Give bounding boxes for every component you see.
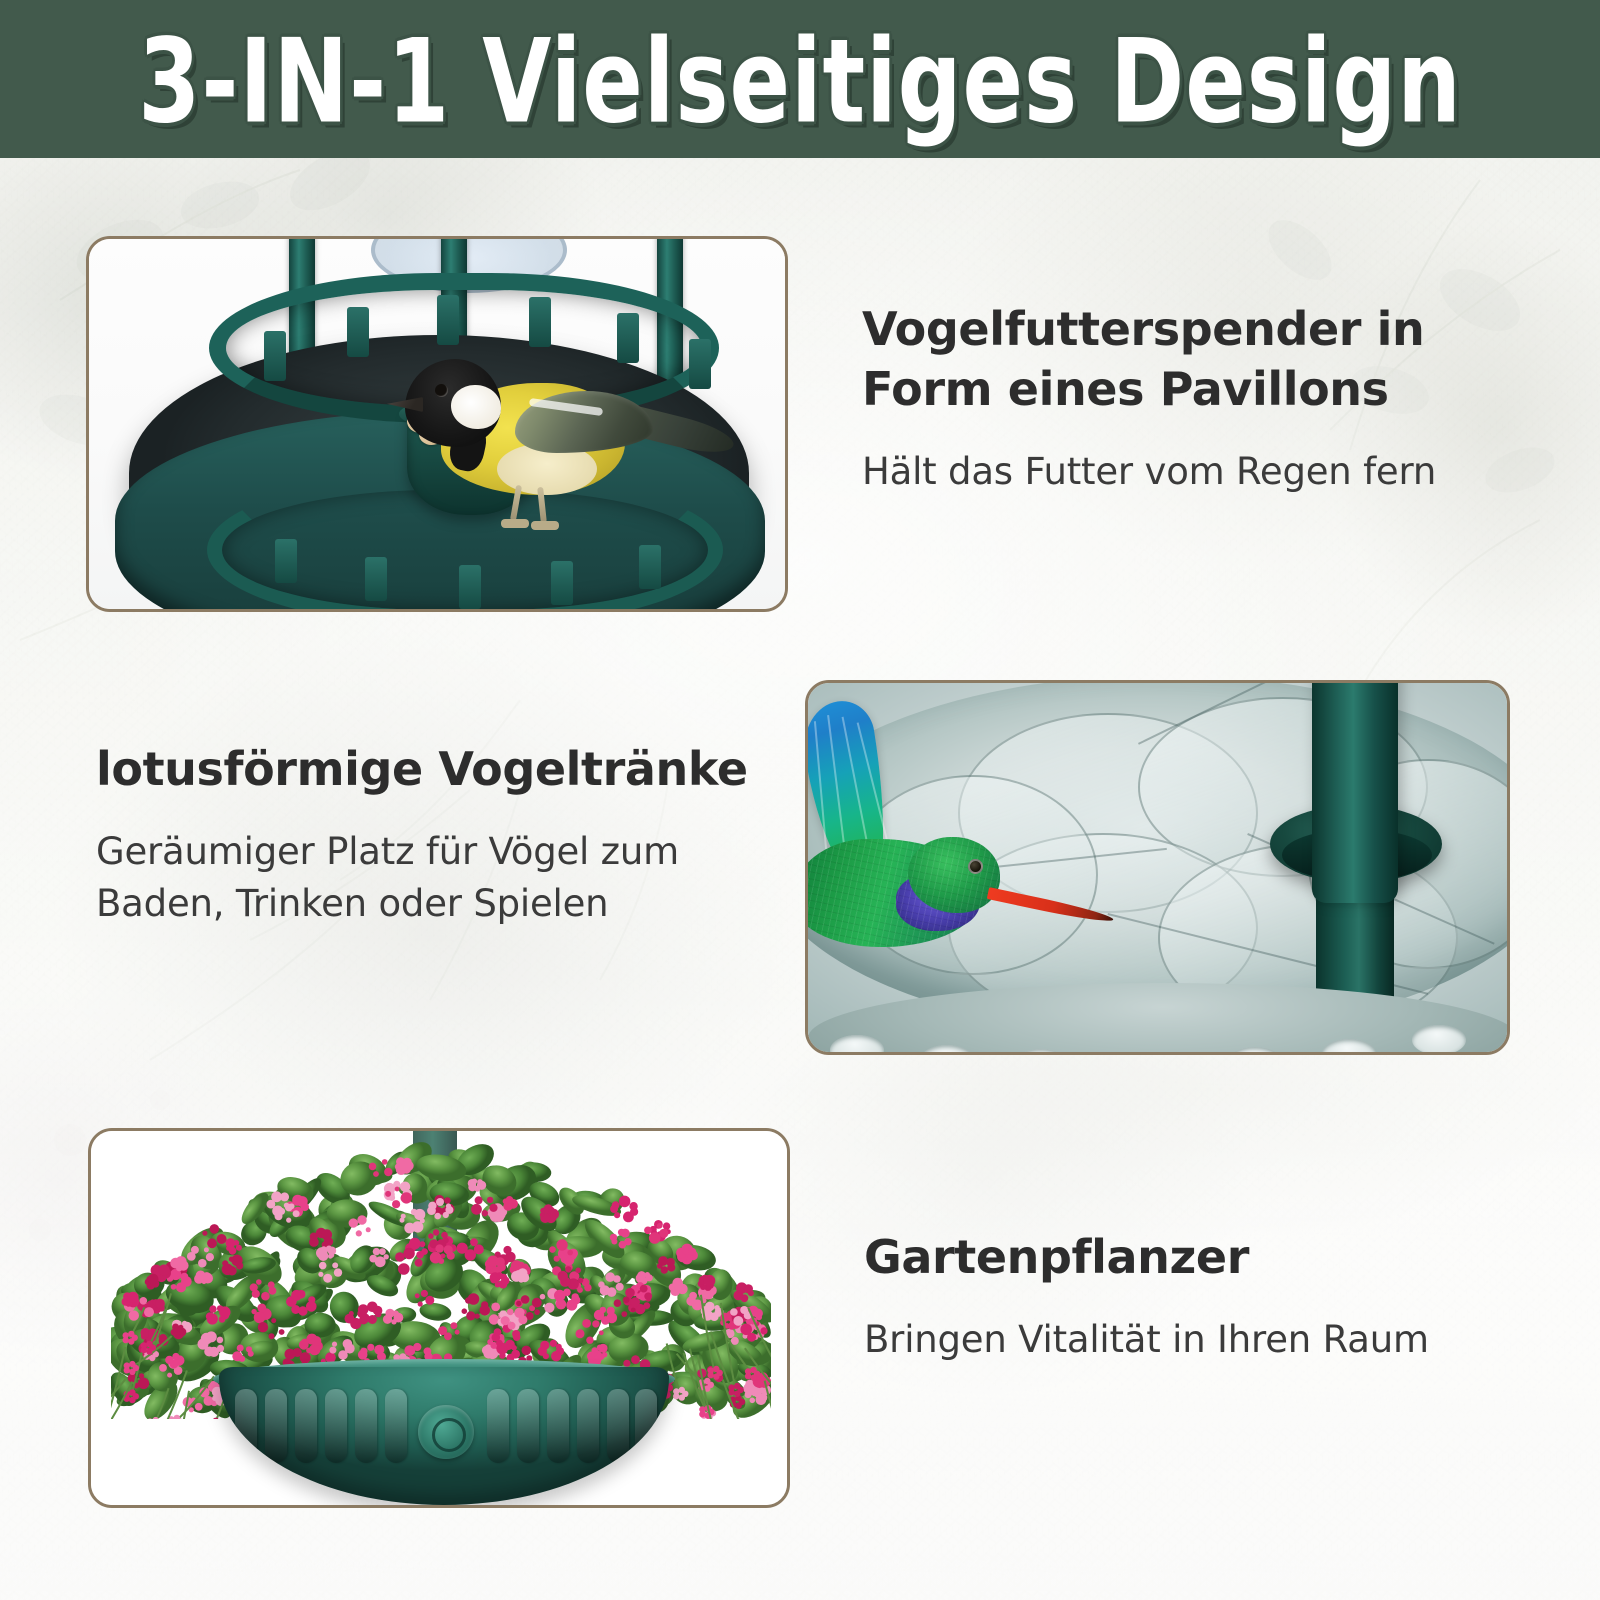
flower-bloom: [146, 1348, 152, 1354]
flower-bloom: [416, 1251, 424, 1259]
flower-bloom: [607, 1307, 615, 1315]
flower-bloom: [393, 1310, 399, 1316]
flower-bloom: [374, 1345, 384, 1355]
flower-bloom: [494, 1328, 502, 1336]
flower-bloom: [209, 1305, 216, 1312]
flower-bloom: [616, 1283, 624, 1291]
flower-bloom: [435, 1244, 443, 1252]
flower-bloom: [549, 1246, 556, 1253]
flower-bloom: [734, 1383, 740, 1389]
flower-bloom: [612, 1201, 620, 1209]
flower-bloom: [258, 1322, 268, 1332]
flower-bloom: [750, 1388, 756, 1394]
flower-bloom: [174, 1415, 180, 1419]
flower-bloom: [663, 1222, 670, 1229]
feature-subtitle-bird-feeder: Hält das Futter vom Regen fern: [862, 446, 1502, 499]
flower-bloom: [334, 1268, 342, 1276]
flower-bloom: [576, 1329, 585, 1338]
flower-bloom: [409, 1238, 421, 1250]
flower-bloom: [501, 1316, 510, 1325]
feature-subtitle-bird-bath: Geräumiger Platz für Vögel zum Baden, Tr…: [96, 826, 776, 931]
flower-bloom: [666, 1258, 675, 1267]
flower-bloom: [403, 1248, 414, 1259]
flower-bloom: [123, 1332, 129, 1338]
flower-bloom: [332, 1262, 338, 1268]
flower-bloom: [640, 1285, 648, 1293]
flower-bloom: [730, 1308, 738, 1316]
flower-bloom: [629, 1202, 637, 1210]
flower-bloom: [516, 1301, 521, 1306]
flower-bloom: [444, 1245, 453, 1254]
flower-bloom: [128, 1338, 134, 1344]
feeder-baluster: [551, 561, 573, 605]
flower-bloom: [565, 1266, 571, 1272]
bird-foot: [501, 519, 529, 528]
flower-bloom: [699, 1406, 705, 1412]
flower-bloom: [293, 1210, 300, 1217]
flower-bloom: [610, 1234, 617, 1241]
flower-bloom: [644, 1227, 652, 1235]
flower-bloom: [704, 1275, 716, 1287]
flower-bloom: [140, 1297, 148, 1305]
bath-center-column: [1312, 683, 1398, 903]
flower-bloom: [558, 1271, 568, 1281]
flower-bloom: [586, 1337, 593, 1344]
flower-bloom: [358, 1304, 369, 1315]
flower-bloom: [679, 1387, 685, 1393]
flower-bloom: [462, 1308, 468, 1314]
flower-bloom: [446, 1203, 451, 1208]
flower-bloom: [323, 1274, 332, 1283]
flower-bloom: [167, 1373, 172, 1378]
flower-bloom: [450, 1322, 457, 1329]
feature-title-bird-feeder: Vogelfutterspender in Form eines Pavillo…: [862, 300, 1502, 420]
flower-bloom: [575, 1268, 581, 1274]
flower-bloom: [428, 1233, 434, 1239]
flower-bloom: [631, 1308, 636, 1313]
flower-bloom: [414, 1209, 425, 1220]
flower-bloom: [554, 1256, 560, 1262]
flower-bloom: [619, 1196, 631, 1208]
flower-bloom: [176, 1282, 186, 1292]
flower-bloom: [679, 1394, 685, 1400]
flower-bloom: [600, 1307, 606, 1313]
flower-bloom: [672, 1278, 683, 1289]
flower-bloom: [138, 1378, 149, 1389]
flower-bloom: [286, 1218, 291, 1223]
feature-image-bird-feeder: [86, 236, 788, 612]
flower-bloom: [728, 1384, 734, 1390]
flower-bloom: [217, 1337, 224, 1344]
flower-bloom: [625, 1288, 635, 1298]
feature-subtitle-garden-planter: Bringen Vitalität in Ihren Raum: [864, 1314, 1524, 1367]
flower-bloom: [733, 1316, 743, 1326]
flower-bloom: [430, 1252, 442, 1264]
flower-bloom: [182, 1321, 187, 1326]
bird-cheek-patch: [451, 385, 501, 429]
flower-bloom: [475, 1196, 483, 1204]
flower-bloom: [740, 1306, 748, 1314]
flower-bloom: [649, 1232, 661, 1244]
flower-bloom: [155, 1299, 165, 1309]
bath-drain-hole: [1412, 1025, 1466, 1052]
flower-bloom: [338, 1350, 348, 1360]
flower-bloom: [246, 1346, 252, 1352]
flower-bloom: [343, 1339, 353, 1349]
flower-bloom: [402, 1158, 412, 1168]
flower-bloom: [395, 1252, 405, 1262]
flower-bloom: [482, 1210, 488, 1216]
flower-bloom: [514, 1308, 524, 1318]
flower-bloom: [404, 1223, 415, 1234]
flower-bloom: [619, 1241, 627, 1249]
flower-bloom: [206, 1253, 214, 1261]
flower-bloom: [144, 1307, 154, 1317]
flower-bloom: [595, 1354, 602, 1361]
flower-bloom: [141, 1342, 147, 1348]
flower-bloom: [285, 1204, 293, 1212]
flower-bloom: [171, 1284, 177, 1290]
flower-bloom: [203, 1272, 211, 1280]
flower-bloom: [395, 1187, 400, 1192]
flower-bloom: [434, 1213, 441, 1220]
flower-bloom: [198, 1259, 207, 1268]
flower-bloom: [256, 1279, 262, 1285]
flower-bloom: [418, 1301, 423, 1306]
flower-bloom: [689, 1292, 697, 1300]
flower-bloom: [385, 1191, 391, 1197]
flower-bloom: [623, 1212, 634, 1223]
flower-bloom: [505, 1340, 515, 1350]
flower-bloom: [278, 1208, 285, 1215]
flower-bloom: [424, 1347, 432, 1355]
flower-bloom: [614, 1212, 620, 1218]
flower-bloom: [421, 1290, 428, 1297]
flower-bloom: [466, 1311, 475, 1320]
flower-bloom: [128, 1331, 134, 1337]
flower-bloom: [457, 1243, 468, 1254]
flower-bloom: [366, 1227, 371, 1232]
flower-bloom: [206, 1312, 215, 1321]
feature-text-garden-planter: Gartenpflanzer Bringen Vitalität in Ihre…: [864, 1228, 1524, 1366]
flower-bloom: [401, 1214, 406, 1219]
flower-bloom: [598, 1344, 607, 1353]
flower-bloom: [139, 1373, 144, 1378]
flower-bloom: [202, 1231, 207, 1236]
flower-bloom: [471, 1204, 482, 1215]
flower-bloom: [637, 1271, 646, 1280]
flower-bloom: [521, 1295, 530, 1304]
feature-title-bird-bath: lotusförmige Vogeltränke: [96, 740, 776, 800]
flower-bloom: [522, 1346, 532, 1356]
flower-bloom: [753, 1309, 763, 1319]
flower-bloom: [657, 1223, 663, 1229]
flower-bloom: [415, 1293, 420, 1298]
flower-bloom: [129, 1310, 139, 1320]
flower-bloom: [750, 1398, 756, 1404]
flower-bloom: [472, 1179, 478, 1185]
bird-eye: [435, 384, 448, 397]
flower-bloom: [311, 1336, 321, 1346]
flower-bloom: [477, 1179, 483, 1185]
flower-bloom: [400, 1182, 410, 1192]
flower-bloom: [518, 1268, 528, 1278]
flower-bloom: [328, 1247, 337, 1256]
flower-bloom: [673, 1388, 679, 1394]
flower-bloom: [630, 1297, 640, 1307]
flower-bloom: [207, 1238, 217, 1248]
flower-bloom: [268, 1281, 275, 1288]
flower-bloom: [512, 1330, 520, 1338]
flower-bloom: [231, 1255, 242, 1266]
flower-bloom: [470, 1238, 478, 1246]
flower-bloom: [491, 1303, 500, 1312]
flower-bloom: [495, 1257, 505, 1267]
flower-bloom: [455, 1330, 460, 1335]
flower-bloom: [257, 1304, 266, 1313]
flower-bloom: [129, 1389, 135, 1395]
flower-bloom: [297, 1196, 308, 1207]
flower-bloom: [548, 1207, 555, 1214]
flower-bloom: [318, 1272, 323, 1277]
hummingbird: [808, 691, 1096, 991]
flower-bloom: [438, 1326, 447, 1335]
flower-bloom: [146, 1341, 152, 1347]
page-title: 3-IN-1 Vielseitiges Design: [138, 17, 1462, 140]
flower-bloom: [487, 1197, 493, 1203]
flower-bloom: [551, 1351, 561, 1361]
flower-bloom: [659, 1229, 668, 1238]
flower-bloom: [195, 1403, 203, 1411]
flower-bloom: [714, 1305, 719, 1310]
flower-bloom: [419, 1241, 425, 1247]
flower-bloom: [760, 1327, 767, 1334]
flower-bloom: [623, 1297, 630, 1304]
feeder-baluster: [437, 295, 459, 345]
flower-bloom: [534, 1309, 540, 1315]
flower-bloom: [373, 1306, 383, 1316]
flower-bloom: [644, 1292, 652, 1300]
flower-bloom: [392, 1200, 400, 1208]
flower-bloom: [544, 1303, 554, 1313]
flower-bloom: [443, 1212, 449, 1218]
flower-bloom: [159, 1364, 167, 1372]
flower-bloom: [532, 1298, 542, 1308]
feeder-baluster: [529, 297, 551, 347]
flower-bloom: [740, 1324, 752, 1336]
feature-image-bird-bath: [805, 680, 1510, 1055]
feature-title-garden-planter: Gartenpflanzer: [864, 1228, 1524, 1288]
planter-medallion: [418, 1405, 474, 1459]
flower-leaf: [418, 1301, 452, 1323]
flower-bloom: [572, 1293, 579, 1300]
flower-bloom: [708, 1367, 714, 1373]
flower-bloom: [428, 1202, 436, 1210]
flower-bloom: [356, 1230, 362, 1236]
feeder-baluster: [459, 565, 481, 609]
flower-bloom: [373, 1248, 380, 1255]
flower-bloom: [129, 1369, 135, 1375]
flower-bloom: [308, 1296, 315, 1303]
feeder-baluster: [365, 557, 387, 601]
flower-bloom: [598, 1281, 604, 1287]
feature-image-garden-planter: [88, 1128, 790, 1508]
flower-bloom: [367, 1344, 374, 1351]
flower-bloom: [599, 1330, 604, 1335]
flower-bloom: [261, 1292, 270, 1301]
flower-bloom: [329, 1347, 336, 1354]
flower-bloom: [745, 1368, 751, 1374]
flower-bloom: [357, 1215, 366, 1224]
feeder-baluster: [275, 539, 297, 583]
flower-bloom: [236, 1245, 242, 1251]
feeder-baluster: [347, 307, 369, 357]
flower-bloom: [506, 1196, 513, 1203]
flower-bloom: [415, 1259, 423, 1267]
flower-bloom: [251, 1309, 256, 1314]
flower-bloom: [614, 1299, 622, 1307]
flower-bloom: [713, 1366, 719, 1372]
flower-bloom: [332, 1342, 337, 1347]
flower-bloom: [349, 1311, 354, 1316]
flower-bloom: [592, 1320, 599, 1327]
flower-bloom: [481, 1301, 488, 1308]
flower-bloom: [413, 1343, 421, 1351]
flower-bloom: [489, 1204, 497, 1212]
flower-bloom: [250, 1283, 258, 1291]
flower-bloom: [507, 1309, 514, 1316]
flower-bloom: [750, 1367, 756, 1373]
flower-bloom: [127, 1292, 138, 1303]
flower-bloom: [567, 1250, 573, 1256]
planter-bowl: [219, 1367, 669, 1505]
flower-bloom: [237, 1345, 244, 1352]
flower-bloom: [382, 1159, 388, 1165]
flower-bloom: [124, 1362, 130, 1368]
flower-bloom: [271, 1318, 276, 1323]
flower-bloom: [689, 1248, 697, 1256]
flower-bloom: [705, 1302, 715, 1312]
flower-bloom: [566, 1300, 577, 1311]
flower-bloom: [704, 1378, 710, 1384]
feeder-baluster: [264, 331, 286, 381]
flower-bloom: [279, 1329, 285, 1335]
flower-bloom: [349, 1218, 358, 1227]
flower-bloom: [631, 1355, 640, 1364]
flower-bloom: [373, 1171, 379, 1177]
hummingbird-head: [908, 837, 1000, 913]
flower-bloom: [379, 1248, 386, 1255]
flower-bloom: [391, 1319, 396, 1324]
flower-bloom: [645, 1272, 650, 1277]
flower-bloom: [556, 1239, 567, 1250]
flower-bloom: [180, 1273, 188, 1281]
flower-bloom: [556, 1344, 562, 1350]
flower-bloom: [234, 1240, 240, 1246]
header-banner: 3-IN-1 Vielseitiges Design: [0, 0, 1600, 158]
great-tit-bird: [389, 351, 719, 521]
flower-bloom: [750, 1374, 756, 1380]
flower-bloom: [503, 1246, 511, 1254]
flower-bloom: [321, 1229, 332, 1240]
feature-text-bird-feeder: Vogelfutterspender in Form eines Pavillo…: [862, 300, 1502, 498]
flower-bloom: [433, 1229, 439, 1235]
flower-bloom: [222, 1260, 228, 1266]
feeder-baluster: [639, 545, 661, 589]
flower-bloom: [713, 1373, 719, 1379]
flower-bloom: [468, 1293, 480, 1305]
feature-text-bird-bath: lotusförmige Vogeltränke Geräumiger Plat…: [96, 740, 776, 931]
hummingbird-bill: [987, 887, 1115, 925]
flower-bloom: [297, 1290, 306, 1299]
flower-bloom: [300, 1352, 311, 1363]
flower-bloom: [319, 1262, 327, 1270]
flower-bloom: [217, 1234, 227, 1244]
flower-bloom: [582, 1319, 591, 1328]
flower-bloom: [540, 1341, 549, 1350]
flower-bloom: [165, 1356, 173, 1364]
flower-bloom: [744, 1284, 753, 1293]
flower-bloom: [369, 1255, 377, 1263]
flower-bloom: [621, 1229, 630, 1238]
flower-bloom: [153, 1278, 159, 1284]
flower-bloom: [425, 1296, 434, 1305]
flower-bloom: [129, 1361, 135, 1367]
flower-bloom: [398, 1263, 410, 1275]
flower-bloom: [369, 1163, 377, 1171]
flower-bloom: [613, 1275, 621, 1283]
flower-bloom: [232, 1351, 242, 1361]
flower-bloom: [563, 1289, 571, 1297]
flower-bloom: [204, 1247, 209, 1252]
bird-foot: [531, 521, 559, 530]
flower-bloom: [280, 1192, 289, 1201]
flower-bloom: [734, 1391, 740, 1397]
flower-bloom: [172, 1353, 179, 1360]
flower-bloom: [219, 1306, 230, 1317]
flower-bloom: [436, 1198, 444, 1206]
flower-bloom: [176, 1256, 187, 1267]
flower-bloom: [178, 1325, 183, 1330]
flower-bloom: [540, 1294, 546, 1300]
flower-bloom: [384, 1168, 392, 1176]
flower-bloom: [206, 1331, 217, 1342]
flower-bloom: [401, 1192, 412, 1203]
flower-bloom: [210, 1224, 220, 1234]
flower-bloom: [500, 1274, 507, 1281]
flower-bloom: [360, 1348, 367, 1355]
flower-bloom: [172, 1324, 179, 1331]
flower-bloom: [441, 1232, 448, 1239]
hummingbird-eye: [968, 859, 983, 874]
flower-bloom: [159, 1265, 170, 1276]
flower-bloom: [269, 1333, 275, 1339]
flower-bloom: [621, 1311, 627, 1317]
flower-bloom: [129, 1397, 135, 1403]
flower-bloom: [735, 1403, 741, 1409]
flower-bloom: [444, 1197, 451, 1204]
flower-bloom: [191, 1246, 199, 1254]
